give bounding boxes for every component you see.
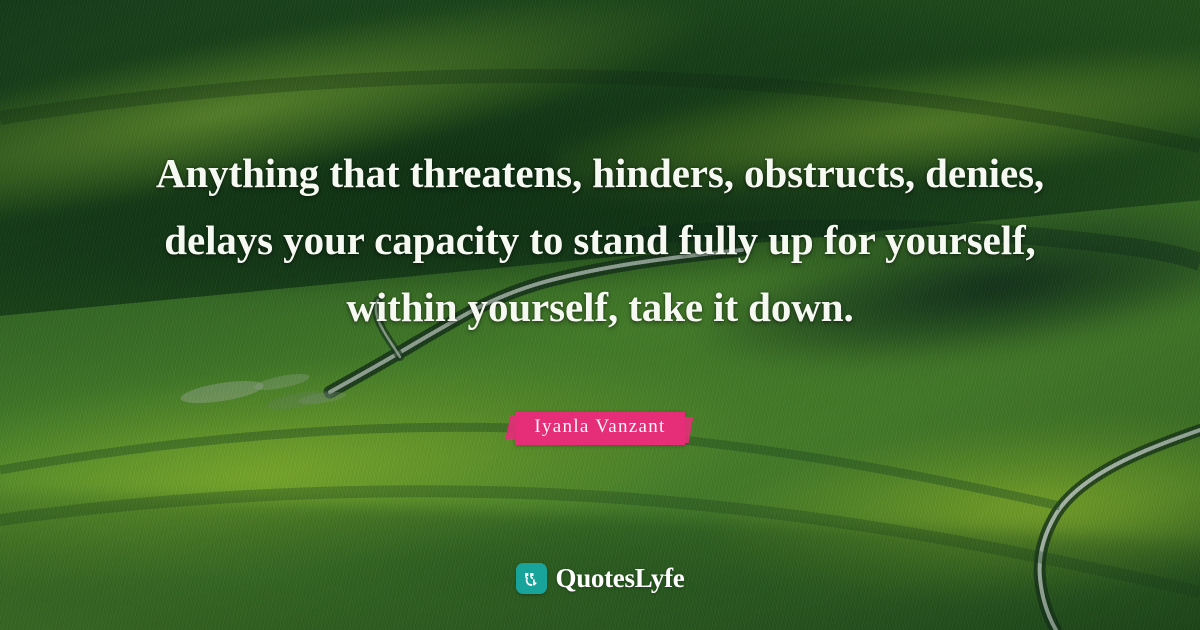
quote-image-card: Anything that threatens, hinders, obstru… bbox=[0, 0, 1200, 630]
author-badge: Iyanla Vanzant bbox=[515, 412, 684, 445]
author-attribution: Iyanla Vanzant bbox=[0, 412, 1200, 445]
quote-mark-icon bbox=[516, 563, 547, 594]
quote-text: Anything that threatens, hinders, obstru… bbox=[150, 140, 1050, 341]
brand-wordmark: QuotesLyfe bbox=[556, 563, 685, 594]
author-name: Iyanla Vanzant bbox=[534, 416, 665, 437]
card-content: Anything that threatens, hinders, obstru… bbox=[0, 0, 1200, 630]
brand-logo[interactable]: QuotesLyfe bbox=[0, 563, 1200, 594]
